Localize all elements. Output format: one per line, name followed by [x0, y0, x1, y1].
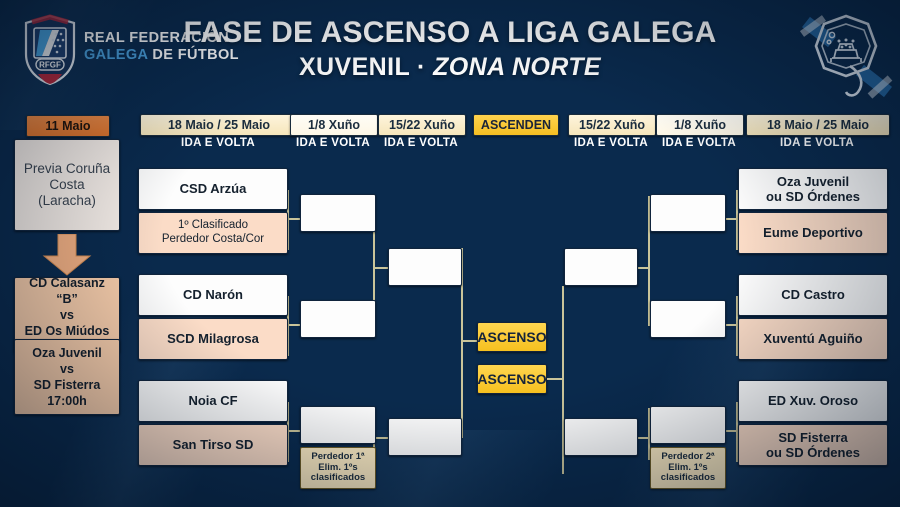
right-slot-r2-0 [650, 194, 726, 232]
previa-match-1: Oza Juvenil vs SD Fisterra 17:00h [14, 339, 120, 415]
round-label-6: 1/8 Xuño [656, 114, 744, 136]
round-label-4: ASCENDEN [473, 114, 559, 136]
left-team-5: San Tirso SD [138, 424, 288, 466]
left-team-1-line1: 1º Clasificado [178, 219, 248, 233]
connector-l2-a-h [373, 267, 389, 269]
round-label-0: 11 Maio [26, 115, 110, 137]
round-sub-3: IDA E VOLTA [376, 137, 466, 149]
right-team-0-line1: Oza Juvenil [777, 174, 849, 189]
left-team-2: CD Narón [138, 274, 288, 316]
round-sub-6: IDA E VOLTA [654, 137, 744, 149]
previa-match-1-home: Oza Juvenil [32, 345, 101, 361]
connector-l1-a-h [287, 218, 301, 220]
previa-venue-box: Previa Coruña Costa (Laracha) [14, 139, 120, 231]
round-label-7: 18 Maio / 25 Maio [746, 114, 890, 136]
right-note-0-line3: clasificados [661, 473, 715, 483]
right-team-0-line2: ou SD Órdenes [766, 189, 860, 204]
previa-match-0-vs: vs [60, 307, 74, 323]
round-sub-1: IDA E VOLTA [140, 137, 296, 149]
previa-venue-line-2: Costa [49, 177, 84, 193]
left-team-1: 1º Clasificado Perdedor Costa/Cor [138, 212, 288, 254]
right-team-2: CD Castro [738, 274, 888, 316]
round-sub-5: IDA E VOLTA [566, 137, 656, 149]
connector-r3-h [547, 378, 563, 380]
left-team-4: Noia CF [138, 380, 288, 422]
poster-title-sub-b: ZONA NORTE [433, 53, 601, 81]
previa-match-1-away: SD Fisterra [34, 377, 101, 393]
round-label-5: 15/22 Xuño [568, 114, 656, 136]
left-note-0: Perdedor 1ª Elim. 1ºs clasificados [300, 447, 376, 489]
connector-l1-b-h [287, 324, 301, 326]
right-slot-r2-2 [650, 406, 726, 444]
previa-match-0-home: CD Calasanz “B” [19, 275, 115, 307]
round-label-1: 18 Maio / 25 Maio [140, 114, 298, 136]
bracket-poster: RFGF REAL FEDERACIÓN GALEGA DE FÚTBOL FA… [0, 0, 900, 507]
down-arrow-icon [40, 234, 94, 276]
right-note-0: Perdedor 2ª Elim. 1ºs clasificados [650, 447, 726, 489]
previa-match-1-time: 17:00h [47, 393, 87, 409]
right-team-4: ED Xuv. Oroso [738, 380, 888, 422]
previa-venue-line-3: (Laracha) [38, 193, 96, 209]
right-team-0: Oza Juvenil ou SD Órdenes [738, 168, 888, 210]
right-slot-r2-1 [650, 300, 726, 338]
poster-title-main: FASE DE ASCENSO A LIGA GALEGA [0, 16, 900, 50]
right-team-5-line1: SD Fisterra [778, 430, 847, 445]
promotion-box-0: ASCENSO [477, 322, 547, 352]
left-team-0: CSD Arzúa [138, 168, 288, 210]
round-label-2: 1/8 Xuño [290, 114, 378, 136]
left-slot-r2-1 [300, 300, 376, 338]
poster-title-sub: XUVENIL · ZONA NORTE [0, 53, 900, 82]
right-team-1: Eume Deportivo [738, 212, 888, 254]
left-slot-r2-0 [300, 194, 376, 232]
poster-header: RFGF REAL FEDERACIÓN GALEGA DE FÚTBOL FA… [0, 0, 900, 106]
right-slot-r3-0 [564, 248, 638, 286]
left-slot-r2-2 [300, 406, 376, 444]
round-sub-7: IDA E VOLTA [746, 137, 888, 149]
right-team-5-line2: ou SD Órdenes [766, 445, 860, 460]
left-slot-r3-1 [388, 418, 462, 456]
previa-match-1-vs: vs [60, 361, 74, 377]
galicia-emblem-icon [798, 8, 894, 104]
round-label-3: 15/22 Xuño [378, 114, 466, 136]
left-team-3: SCD Milagrosa [138, 318, 288, 360]
right-team-5: SD Fisterra ou SD Órdenes [738, 424, 888, 466]
poster-title-sub-a: XUVENIL · [299, 53, 433, 81]
left-team-1-line2: Perdedor Costa/Cor [162, 233, 264, 247]
right-slot-r3-1 [564, 418, 638, 456]
previa-match-0-away: ED Os Miúdos [25, 323, 110, 339]
round-sub-2: IDA E VOLTA [288, 137, 378, 149]
right-team-3: Xuventú Aguiño [738, 318, 888, 360]
left-note-0-line3: clasificados [311, 473, 365, 483]
connector-l1-c-h [287, 430, 301, 432]
left-slot-r3-0 [388, 248, 462, 286]
promotion-box-1: ASCENSO [477, 364, 547, 394]
previa-venue-line-1: Previa Coruña [24, 161, 110, 177]
